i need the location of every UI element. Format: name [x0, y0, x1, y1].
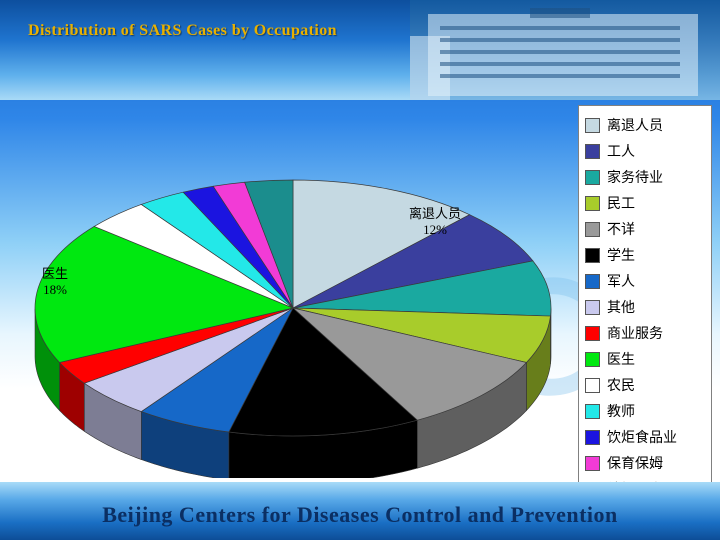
legend-label: 饮炬食品业	[607, 427, 677, 447]
legend-swatch	[585, 222, 600, 237]
legend-label: 工人	[607, 141, 635, 161]
slice-label-doctor-value: 18%	[10, 282, 100, 298]
legend-swatch	[585, 248, 600, 263]
legend-swatch	[585, 352, 600, 367]
legend-label: 农民	[607, 375, 635, 395]
legend-label: 军人	[607, 271, 635, 291]
slide-canvas: ℃ Distribution of SARS Cases by Occupati…	[0, 0, 720, 540]
legend-label: 家务待业	[607, 167, 663, 187]
pie-chart: 离退人员 12% 医生 18%	[5, 108, 580, 478]
slice-label-doctor-name: 医生	[10, 266, 100, 282]
footer-text: Beijing Centers for Diseases Control and…	[0, 502, 720, 528]
legend-item: 农民	[585, 372, 707, 398]
slice-label-doctor: 医生 18%	[10, 266, 100, 299]
slice-label-retired-value: 12%	[375, 222, 495, 238]
legend-item: 教师	[585, 398, 707, 424]
legend-item: 商业服务	[585, 320, 707, 346]
legend-swatch	[585, 404, 600, 419]
legend-swatch	[585, 378, 600, 393]
legend-label: 学生	[607, 245, 635, 265]
legend-label: 医生	[607, 349, 635, 369]
legend-swatch	[585, 430, 600, 445]
legend-item: 其他	[585, 294, 707, 320]
legend-item: 离退人员	[585, 112, 707, 138]
legend-item: 民工	[585, 190, 707, 216]
legend-item: 家务待业	[585, 164, 707, 190]
legend-label: 保育保姆	[607, 453, 663, 473]
slice-label-retired: 离退人员 12%	[375, 206, 495, 239]
legend-swatch	[585, 118, 600, 133]
building-photo	[410, 0, 720, 100]
legend-swatch	[585, 274, 600, 289]
legend-swatch	[585, 300, 600, 315]
legend-item: 工人	[585, 138, 707, 164]
chart-legend: 离退人员工人家务待业民工不详学生军人其他商业服务医生农民教师饮炬食品业保育保姆幼…	[578, 105, 712, 530]
legend-label: 商业服务	[607, 323, 663, 343]
legend-label: 教师	[607, 401, 635, 421]
legend-swatch	[585, 144, 600, 159]
legend-label: 民工	[607, 193, 635, 213]
legend-label: 不详	[607, 219, 635, 239]
legend-swatch	[585, 326, 600, 341]
legend-item: 不详	[585, 216, 707, 242]
legend-item: 医生	[585, 346, 707, 372]
legend-swatch	[585, 196, 600, 211]
legend-item: 饮炬食品业	[585, 424, 707, 450]
legend-item: 保育保姆	[585, 450, 707, 476]
legend-label: 其他	[607, 297, 635, 317]
legend-item: 学生	[585, 242, 707, 268]
legend-swatch	[585, 456, 600, 471]
slice-label-retired-name: 离退人员	[375, 206, 495, 222]
legend-item: 军人	[585, 268, 707, 294]
legend-label: 离退人员	[607, 115, 663, 135]
page-title: Distribution of SARS Cases by Occupation	[28, 22, 337, 40]
legend-swatch	[585, 170, 600, 185]
